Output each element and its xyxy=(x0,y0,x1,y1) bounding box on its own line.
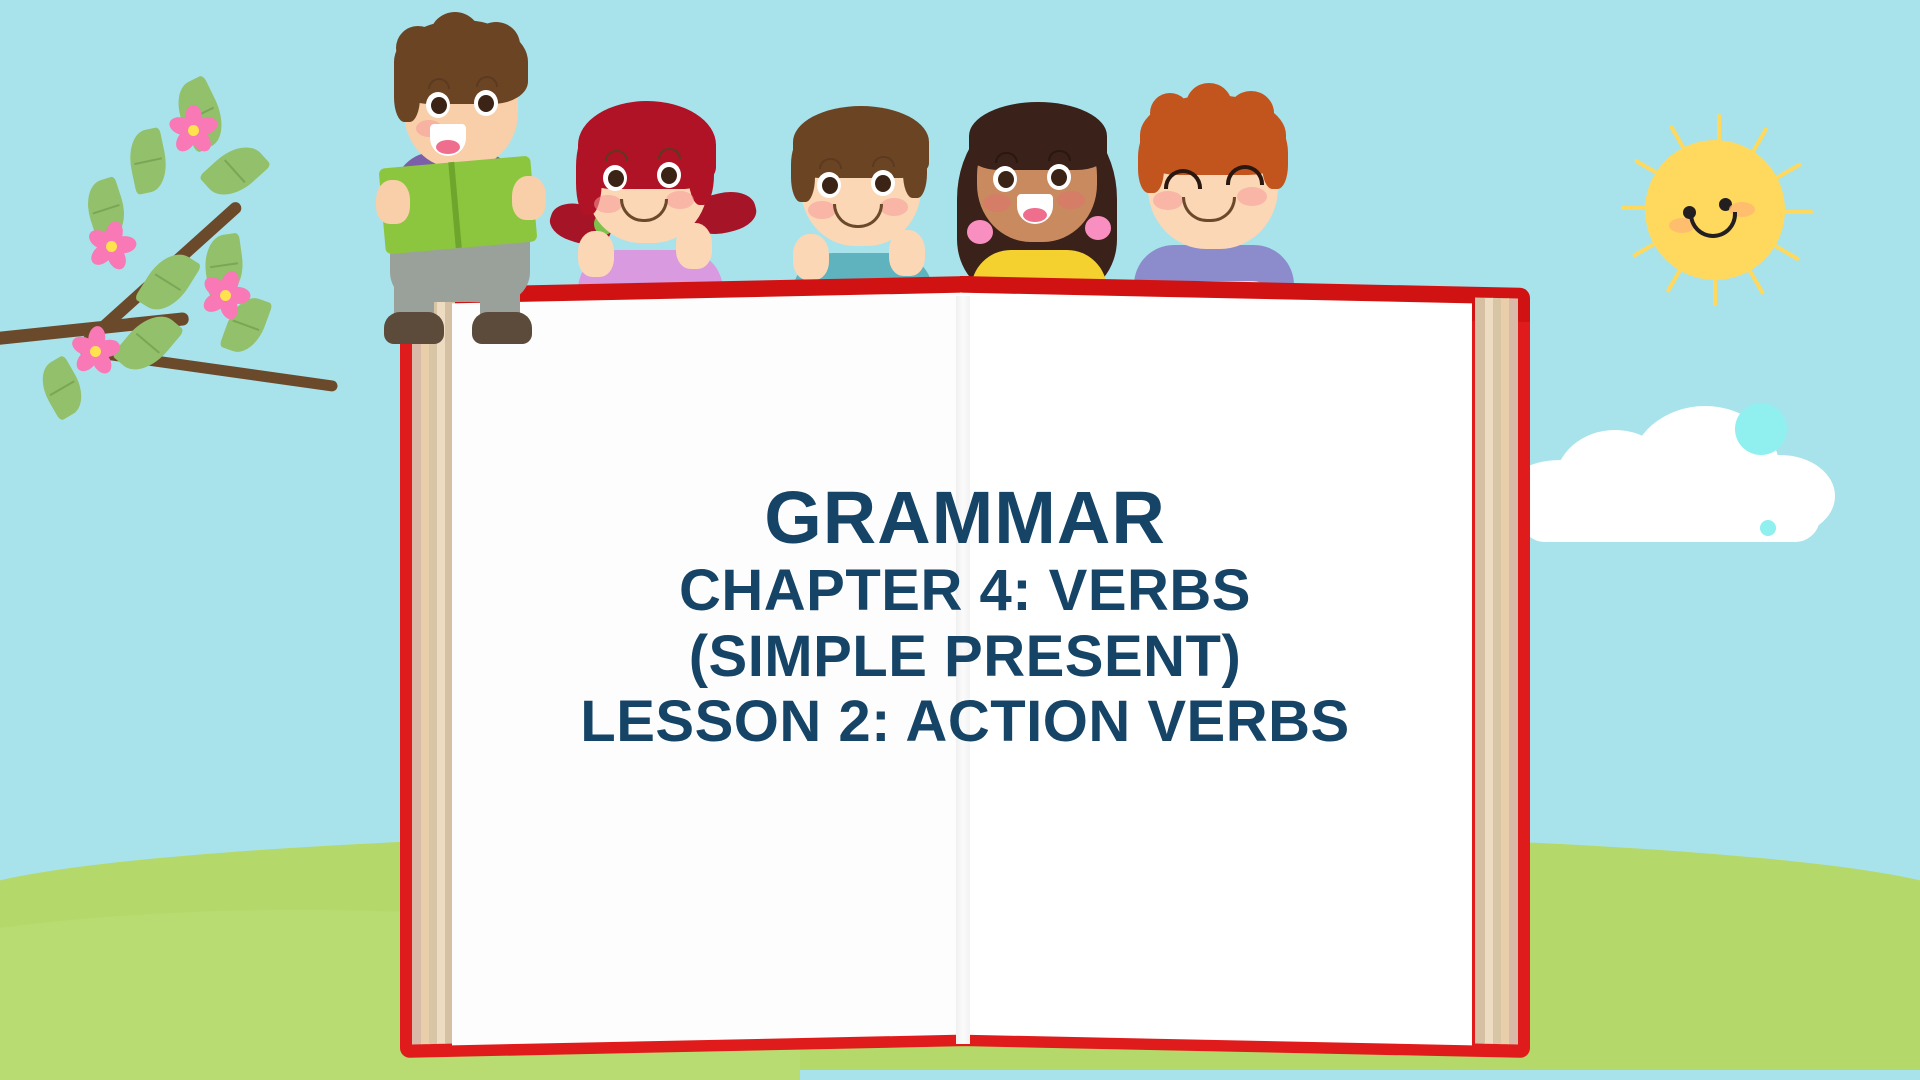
hair-front xyxy=(969,102,1107,170)
title-line-lesson: LESSON 2: ACTION VERBS xyxy=(400,692,1530,751)
title-line-grammar: GRAMMAR xyxy=(400,480,1530,555)
hair-side-right xyxy=(903,136,927,198)
slide-canvas: GRAMMAR CHAPTER 4: VERBS (SIMPLE PRESENT… xyxy=(0,0,1920,1080)
eye-left xyxy=(817,172,841,198)
pupil-right xyxy=(875,175,891,192)
pupil-left xyxy=(431,97,447,114)
cheek-left xyxy=(1153,191,1183,210)
hand-left xyxy=(578,231,614,277)
pupil-left xyxy=(608,170,624,187)
flower xyxy=(202,272,248,318)
bubble-small xyxy=(1760,520,1776,536)
character-girl-red-pigtails xyxy=(558,95,748,305)
smiling-sun xyxy=(1645,140,1785,280)
hand-right xyxy=(889,230,925,276)
flowering-branch xyxy=(0,60,320,390)
cheek-right xyxy=(1057,191,1085,209)
hair-curl-b xyxy=(1186,83,1232,127)
flower xyxy=(72,328,118,374)
eye-left xyxy=(603,165,627,191)
character-girl-dark-hair xyxy=(945,90,1135,305)
hand-left xyxy=(376,180,410,224)
eye-right xyxy=(657,162,681,188)
eye-left xyxy=(426,92,450,118)
cheek-left xyxy=(983,194,1011,212)
hand-right xyxy=(676,223,712,269)
pupil-right xyxy=(478,95,494,112)
eye-right xyxy=(474,90,498,116)
hair-curl-a xyxy=(1150,93,1190,133)
title-line-chapter: CHAPTER 4: VERBS xyxy=(400,561,1530,620)
bubble-large xyxy=(1735,403,1787,455)
cheek-left xyxy=(808,201,836,219)
hand-left xyxy=(793,234,829,280)
sun-face xyxy=(1645,140,1785,280)
eye-left xyxy=(993,166,1017,192)
eye-right xyxy=(871,170,895,196)
hair-tie-right xyxy=(1085,216,1111,240)
pupil-right xyxy=(661,167,677,184)
tongue xyxy=(1023,208,1047,222)
shoe-left xyxy=(384,312,444,344)
cheek-right xyxy=(880,198,908,216)
character-boy-brown-hair xyxy=(775,98,955,303)
pupil-left xyxy=(998,171,1014,188)
hair-tie-left xyxy=(967,220,993,244)
pupil-left xyxy=(822,177,838,194)
tongue xyxy=(436,140,460,154)
hair-side-right xyxy=(1262,129,1288,189)
leaf xyxy=(124,127,172,195)
bubble-medium xyxy=(1768,465,1794,491)
flower xyxy=(170,107,216,153)
title-line-tense: (SIMPLE PRESENT) xyxy=(400,627,1530,686)
hair-side-left xyxy=(394,60,420,122)
hair-side-left xyxy=(1138,133,1164,193)
hair-side-right xyxy=(688,129,714,205)
hair-curl-c xyxy=(472,22,520,68)
flower xyxy=(88,223,134,269)
sun-mouth xyxy=(1689,212,1737,238)
slide-title-block: GRAMMAR CHAPTER 4: VERBS (SIMPLE PRESENT… xyxy=(400,480,1530,751)
shoe-right xyxy=(472,312,532,344)
cheek-right xyxy=(666,191,694,209)
leaf xyxy=(134,244,202,319)
hair-side-left xyxy=(791,140,815,202)
cheek-left xyxy=(594,195,622,213)
pupil-right xyxy=(1051,169,1067,186)
hand-right xyxy=(512,176,546,220)
character-boy-with-green-book xyxy=(372,12,572,342)
character-boy-ginger-hair xyxy=(1120,85,1310,305)
eye-right xyxy=(1047,164,1071,190)
cheek-right xyxy=(1237,187,1267,206)
